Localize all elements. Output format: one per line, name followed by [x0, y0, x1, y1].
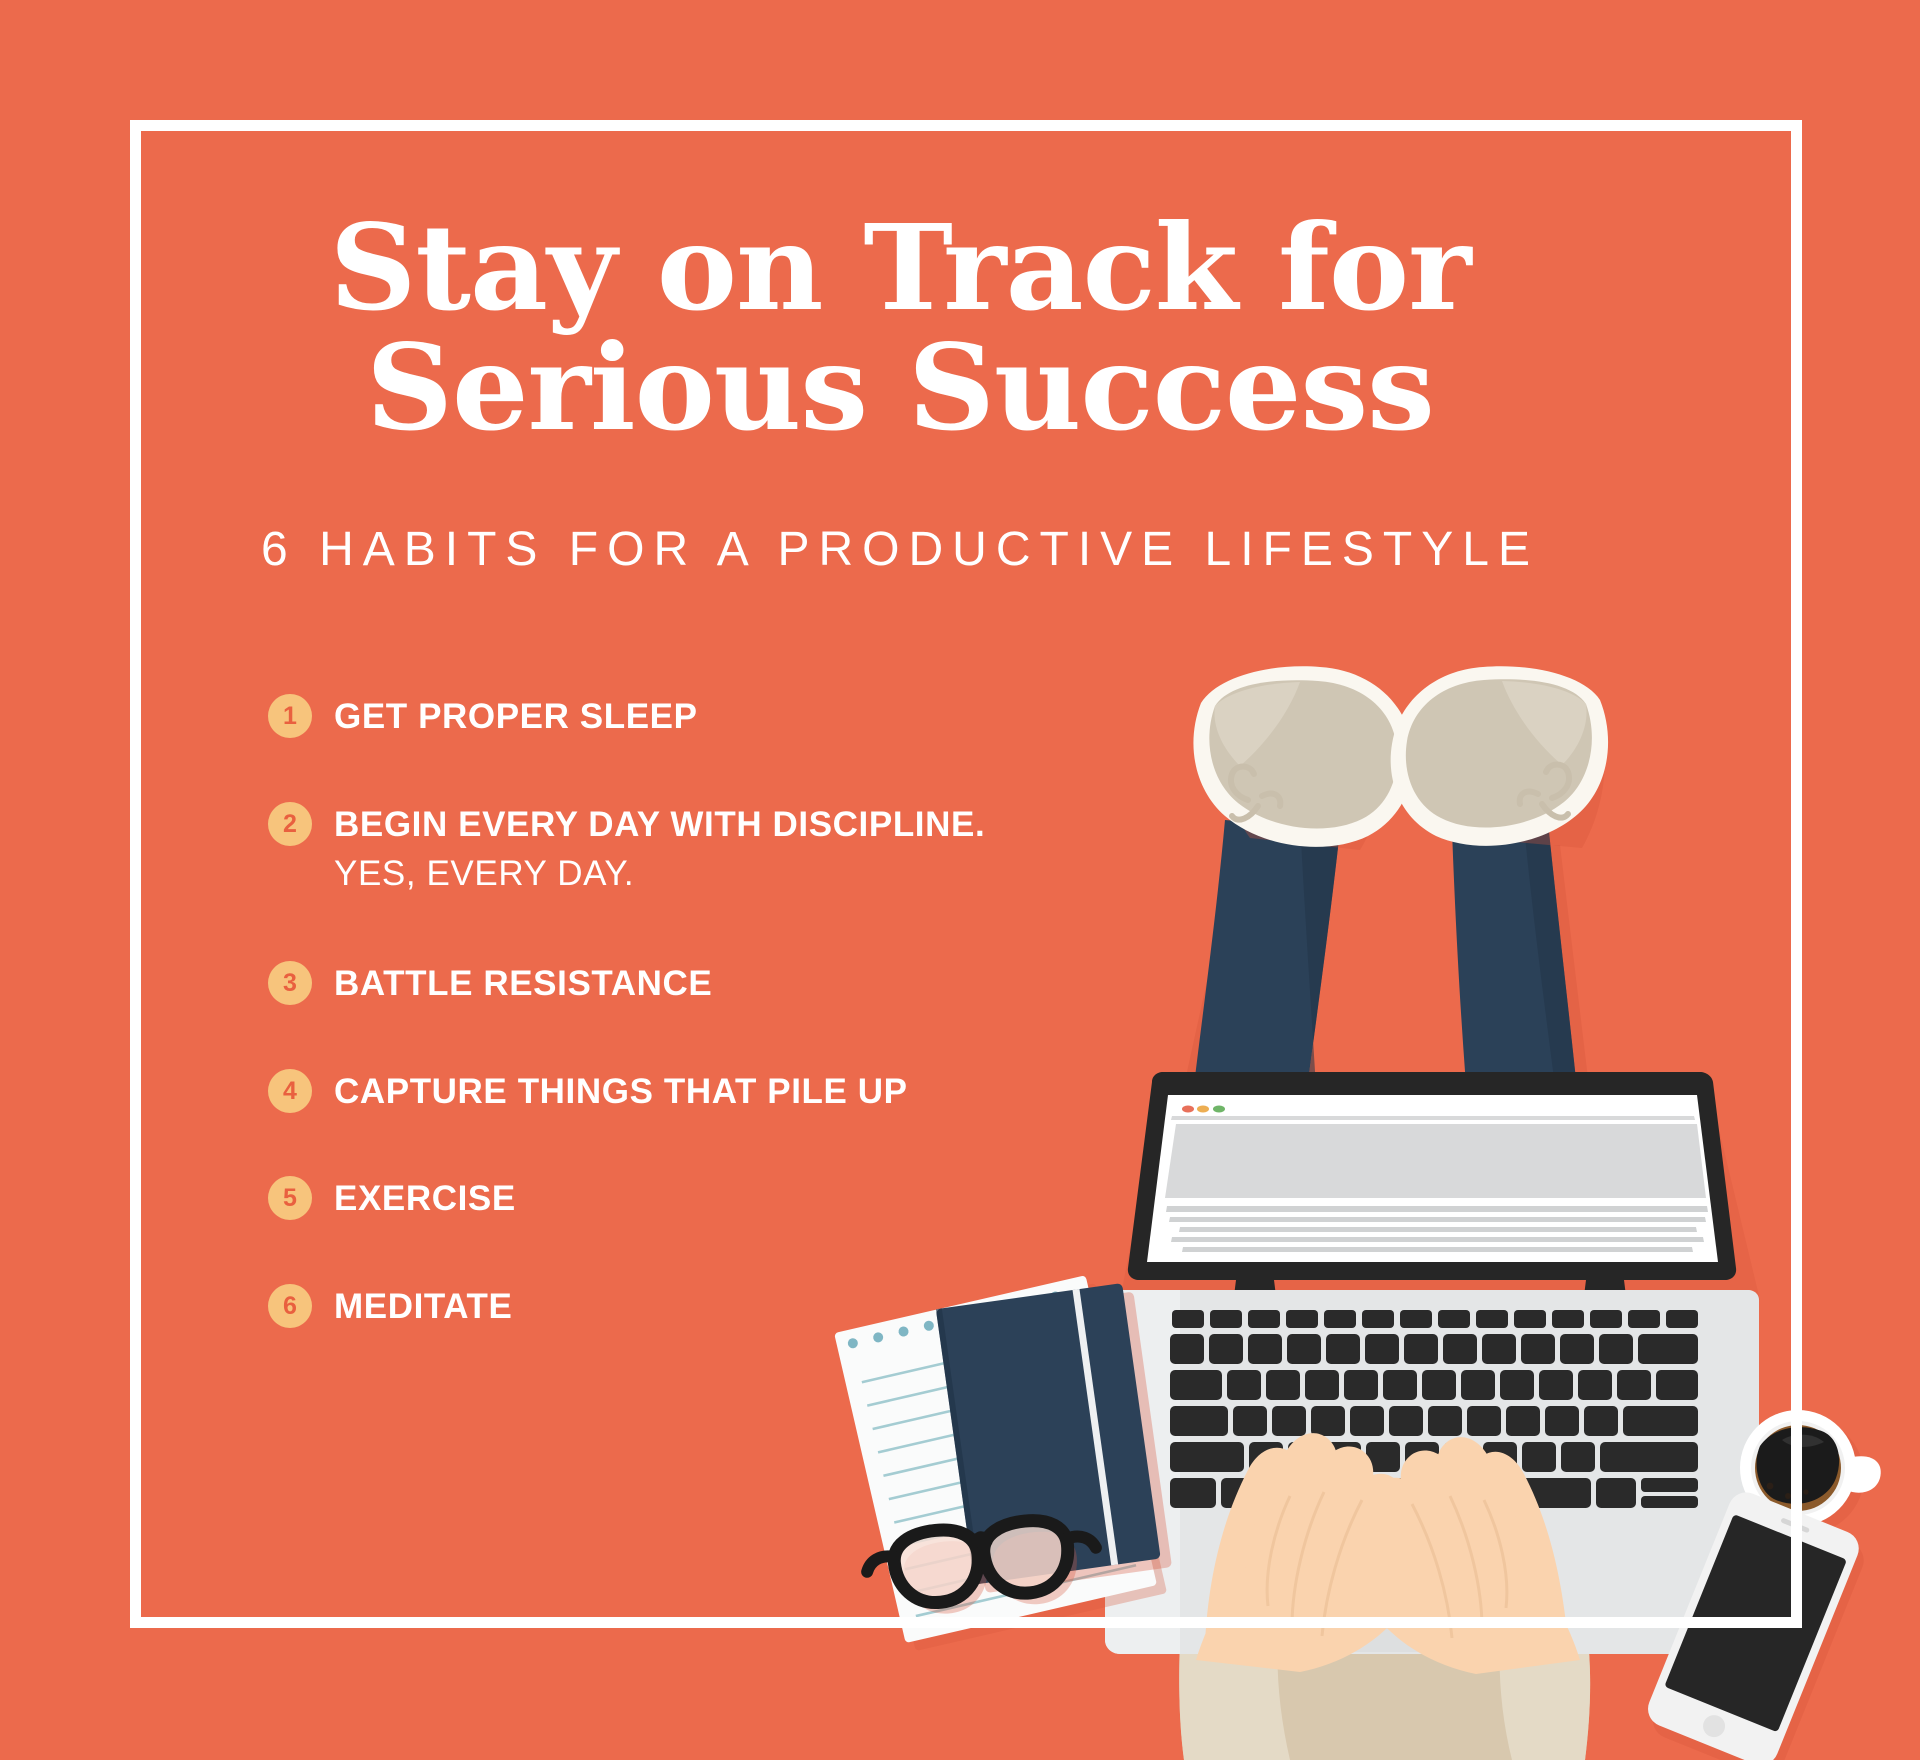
headline-line-2: Serious Success [115, 328, 1686, 448]
coffee-cup [1740, 1410, 1881, 1534]
habit-label-bold: MEDITATE [334, 1287, 512, 1326]
headline-line-1: Stay on Track for [115, 208, 1686, 328]
right-leg [1452, 822, 1590, 1135]
list-item: 4 CAPTURE THINGS THAT PILE UP [268, 1065, 1028, 1117]
left-shoe [1193, 666, 1413, 850]
habit-number-badge: 4 [268, 1069, 312, 1113]
page-title: Stay on Track for Serious Success [130, 208, 1670, 449]
habit-number-badge: 3 [268, 961, 312, 1005]
habit-number-badge: 6 [268, 1284, 312, 1328]
left-leg [1183, 820, 1340, 1140]
habit-label: EXERCISE [334, 1172, 516, 1224]
habit-label-normal: YES, EVERY DAY. [334, 854, 634, 893]
habit-label: BATTLE RESISTANCE [334, 957, 712, 1009]
torso-sweater [1179, 1480, 1590, 1760]
habit-label-bold: GET PROPER SLEEP [334, 697, 698, 736]
habit-label: GET PROPER SLEEP [334, 690, 698, 742]
list-item: 3 BATTLE RESISTANCE [268, 957, 1028, 1009]
habit-number-badge: 2 [268, 802, 312, 846]
list-item: 5 EXERCISE [268, 1172, 1028, 1224]
habit-label-bold: BEGIN EVERY DAY WITH DISCIPLINE. [334, 805, 985, 844]
habit-label-bold: CAPTURE THINGS THAT PILE UP [334, 1072, 908, 1111]
laptop [1105, 1072, 1760, 1674]
list-item: 6 MEDITATE [268, 1280, 1028, 1332]
habit-label: MEDITATE [334, 1280, 512, 1332]
keyboard [1170, 1310, 1698, 1508]
glasses [864, 1514, 1102, 1622]
habit-label-bold: EXERCISE [334, 1179, 516, 1218]
habit-label: CAPTURE THINGS THAT PILE UP [334, 1065, 908, 1117]
page-subtitle: 6 HABITS FOR A PRODUCTIVE LIFESTYLE [130, 522, 1670, 577]
habit-list: 1 GET PROPER SLEEP 2 BEGIN EVERY DAY WIT… [268, 690, 1028, 1332]
habit-number-badge: 5 [268, 1176, 312, 1220]
left-hand [1196, 1433, 1423, 1672]
right-hand [1353, 1437, 1580, 1674]
right-shoe [1391, 666, 1608, 848]
list-item: 1 GET PROPER SLEEP [268, 690, 1028, 742]
habit-label: BEGIN EVERY DAY WITH DISCIPLINE. YES, EV… [334, 798, 1028, 899]
habit-number-badge: 1 [268, 694, 312, 738]
habit-label-bold: BATTLE RESISTANCE [334, 964, 712, 1003]
list-item: 2 BEGIN EVERY DAY WITH DISCIPLINE. YES, … [268, 798, 1028, 899]
infographic-poster: Stay on Track for Serious Success 6 HABI… [0, 0, 1920, 1760]
smartphone [1639, 1487, 1872, 1760]
